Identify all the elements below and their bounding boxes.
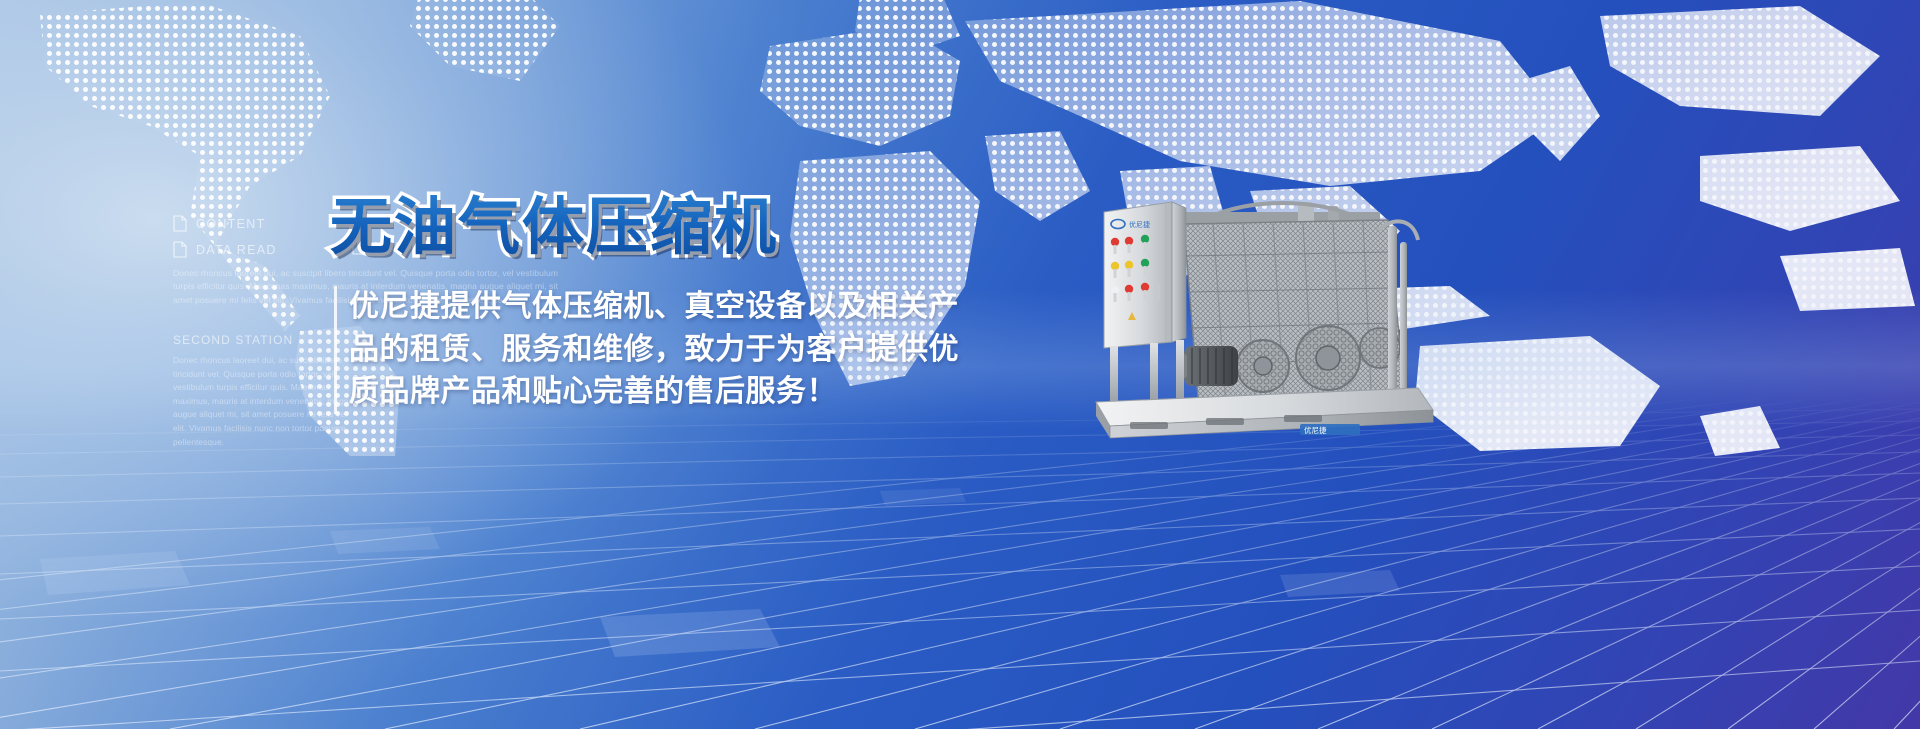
banner-subtitle-text: 优尼捷提供气体压缩机、真空设备以及相关产品的租赁、服务和维修，致力于为客户提供优… <box>349 286 979 414</box>
hero-banner: CONTENT DATA READ Donec rhoncus laoreet … <box>0 0 1920 729</box>
document-icon <box>173 215 187 232</box>
perspective-grid-floor <box>0 399 1920 729</box>
ghost-label-content: CONTENT <box>196 217 266 231</box>
document-icon <box>173 241 187 258</box>
machine-base-brand: 优尼捷 <box>1304 425 1327 435</box>
banner-subtitle: 优尼捷提供气体压缩机、真空设备以及相关产品的租赁、服务和维修，致力于为客户提供优… <box>334 286 979 414</box>
page-title: 无油气体压缩机 <box>330 176 778 266</box>
product-image-compressor: 优尼捷 <box>1088 196 1448 446</box>
machine-brand-mark: 优尼捷 <box>1129 220 1150 229</box>
ghost-label-data-read: DATA READ <box>196 243 277 257</box>
